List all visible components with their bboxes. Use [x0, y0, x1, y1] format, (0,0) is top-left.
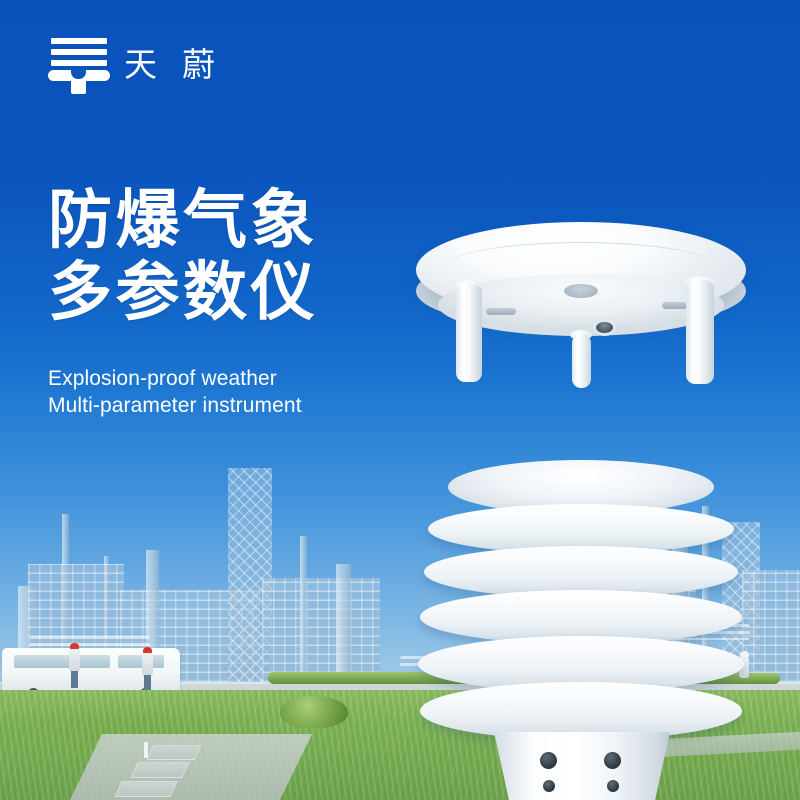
tianwei-logo-mark-icon [48, 36, 110, 92]
product-image [398, 212, 770, 792]
sensor-port-hole [604, 752, 621, 769]
subtitle-line-1: Explosion-proof weather [48, 366, 302, 393]
disc-vent-hole [564, 284, 598, 298]
subtitle-line-2: Multi-parameter instrument [48, 393, 302, 420]
refinery-structure [262, 578, 380, 682]
headline-line-2: 多参数仪 [48, 258, 318, 330]
ground-marker-post [144, 742, 148, 758]
brand-logo[interactable]: 天 蔚 [48, 36, 222, 92]
logo-bar [51, 49, 107, 55]
ultrasonic-post [456, 284, 482, 382]
bus-window [118, 655, 164, 668]
logo-bar [51, 60, 107, 66]
instrument-body-cone [494, 732, 670, 800]
worker-legs [71, 671, 78, 688]
sensor-port-hole [543, 780, 555, 792]
disc-slot [486, 308, 516, 315]
brand-name: 天 蔚 [124, 48, 222, 81]
headline-line-1: 防爆气象 [48, 186, 318, 258]
path-slab [114, 781, 177, 797]
worker-figure [69, 649, 80, 672]
logo-bar [51, 38, 107, 44]
sensor-port-hole [607, 780, 619, 792]
shrub [280, 696, 348, 728]
refinery-tower [336, 564, 351, 682]
sensor-port-hole [540, 752, 557, 769]
path-slab [130, 762, 189, 778]
product-banner: 天 蔚 防爆气象 多参数仪 Explosion-proof weather Mu… [0, 0, 800, 800]
subtitle-block: Explosion-proof weather Multi-parameter … [48, 366, 302, 420]
path-slab [147, 745, 202, 760]
headline-block: 防爆气象 多参数仪 [48, 186, 318, 329]
ultrasonic-post [572, 334, 591, 388]
disc-slot [662, 302, 688, 309]
bus-window [14, 655, 110, 668]
footpath [70, 734, 312, 800]
shield-plate-bottom [420, 682, 742, 740]
worker-figure [142, 653, 153, 676]
ultrasonic-post [686, 280, 714, 384]
refinery-stack [300, 536, 307, 682]
disc-sensor-port [596, 322, 613, 333]
